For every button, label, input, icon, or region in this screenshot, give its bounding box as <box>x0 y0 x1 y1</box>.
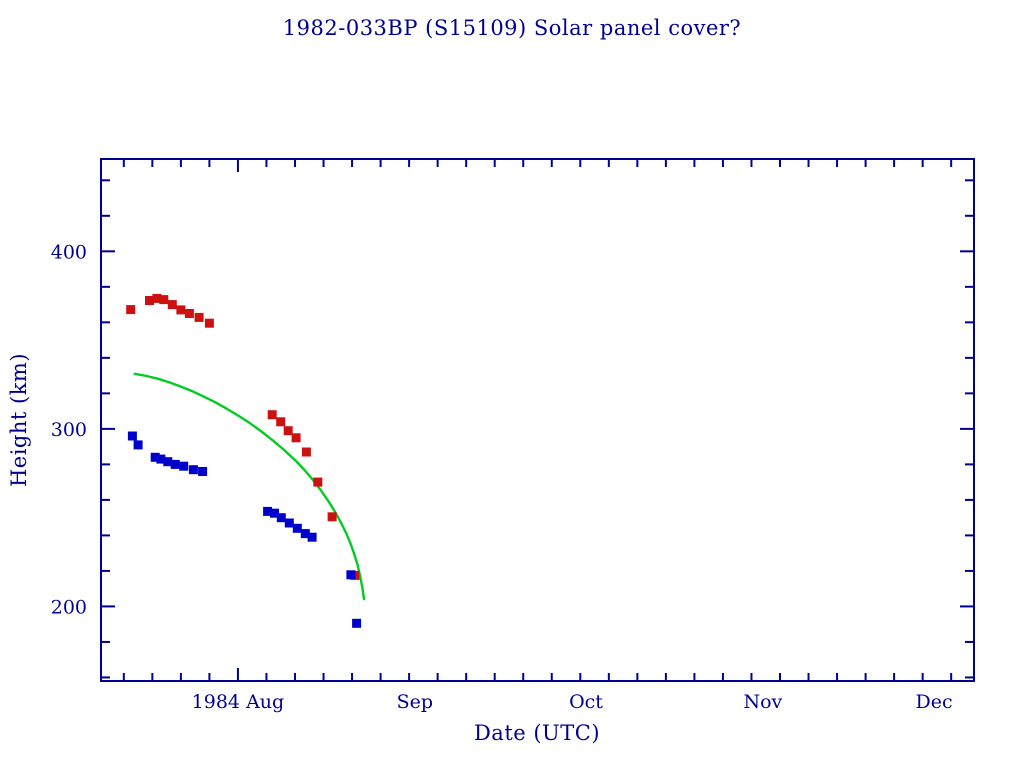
data-point-marker <box>346 570 355 579</box>
y-axis-ticks <box>101 180 974 677</box>
data-point-marker <box>302 448 311 457</box>
x-axis-tick-labels: 1984 AugSepOctNovDec <box>192 691 953 713</box>
data-point-marker <box>268 410 277 419</box>
data-point-marker <box>198 467 207 476</box>
x-tick-label: Oct <box>569 691 603 713</box>
data-point-marker <box>128 432 137 441</box>
data-point-marker <box>285 519 294 528</box>
x-tick-label: Sep <box>397 691 433 713</box>
x-tick-label: Dec <box>915 691 952 713</box>
data-point-marker <box>189 465 198 474</box>
data-point-marker <box>352 619 361 628</box>
data-point-marker <box>277 513 286 522</box>
data-point-marker <box>293 524 302 533</box>
y-tick-label: 300 <box>51 419 87 441</box>
data-point-marker <box>195 313 204 322</box>
data-point-marker <box>276 417 285 426</box>
data-point-marker <box>134 440 143 449</box>
y-axis-label: Height (km) <box>7 353 31 487</box>
chart-container: 1982-033BP (S15109) Solar panel cover? 2… <box>0 0 1024 768</box>
y-tick-label: 200 <box>51 596 87 618</box>
chart-title: 1982-033BP (S15109) Solar panel cover? <box>0 16 1024 40</box>
x-axis-ticks <box>124 159 951 681</box>
series-blue-points <box>128 432 361 628</box>
y-axis-tick-labels: 200300400 <box>51 241 87 618</box>
plot-area: 200300400 1984 AugSepOctNovDec Date (UTC… <box>0 0 1024 768</box>
data-point-marker <box>168 300 177 309</box>
data-point-marker <box>284 426 293 435</box>
x-tick-label: Nov <box>743 691 782 713</box>
data-point-marker <box>313 478 322 487</box>
data-point-marker <box>176 305 185 314</box>
data-point-marker <box>159 295 168 304</box>
x-tick-label: 1984 Aug <box>192 691 285 713</box>
plot-frame <box>101 159 974 681</box>
data-point-marker <box>292 433 301 442</box>
data-point-marker <box>328 512 337 521</box>
x-axis-label: Date (UTC) <box>474 721 600 745</box>
data-point-marker <box>126 305 135 314</box>
data-point-marker <box>179 462 188 471</box>
fitted-decay-curve <box>135 374 364 599</box>
data-point-marker <box>185 309 194 318</box>
series-red-points <box>126 294 359 580</box>
y-tick-label: 400 <box>51 241 87 263</box>
data-point-marker <box>205 319 214 328</box>
data-point-marker <box>171 460 180 469</box>
data-point-marker <box>308 533 317 542</box>
